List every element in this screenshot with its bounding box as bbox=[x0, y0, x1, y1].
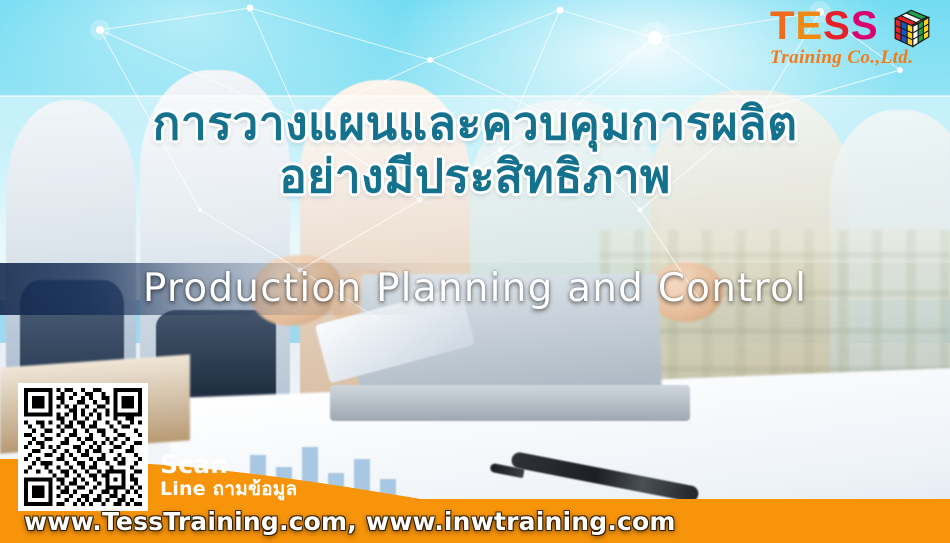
scan-sub-label: Line ถามข้อมูล bbox=[160, 480, 297, 499]
logo-letter-t: T bbox=[770, 4, 795, 48]
logo-tagline: Training Co.,Ltd. bbox=[770, 47, 913, 69]
course-poster: TESS Training Co.,Ltd. bbox=[0, 0, 950, 543]
headline-thai-line-2: อย่างมีประสิทธิภาพ bbox=[0, 153, 950, 200]
headline-group: การวางแผนและควบคุมการผลิต อย่างมีประสิทธ… bbox=[0, 100, 950, 200]
logo-letter-e: E bbox=[795, 4, 823, 48]
scan-label: Scan bbox=[160, 452, 297, 477]
rubiks-cube-icon bbox=[890, 6, 934, 50]
tess-logo[interactable]: TESS Training Co.,Ltd. bbox=[762, 4, 940, 84]
qr-code[interactable] bbox=[20, 385, 146, 509]
website-urls[interactable]: www.TessTraining.com, www.inwtraining.co… bbox=[0, 499, 950, 543]
scan-instruction-block: Scan Line ถามข้อมูล bbox=[160, 452, 297, 499]
logo-wordmark: TESS bbox=[770, 6, 879, 46]
qr-code-image bbox=[23, 388, 143, 506]
headline-english: Production Planning and Control bbox=[0, 266, 950, 311]
logo-letter-s1: S bbox=[823, 4, 851, 48]
headline-thai-line-1: การวางแผนและควบคุมการผลิต bbox=[0, 100, 950, 147]
logo-letter-s2: S bbox=[851, 4, 879, 48]
laptop-base bbox=[330, 385, 690, 421]
